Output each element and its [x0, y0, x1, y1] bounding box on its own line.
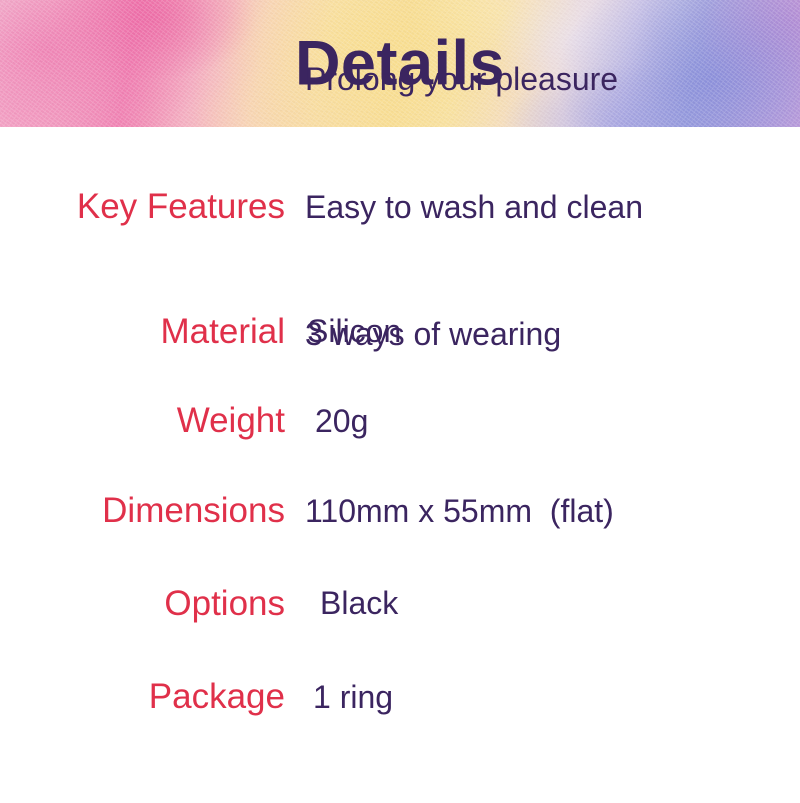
spec-label-package: Package: [0, 678, 285, 716]
details-page: Details Key Features Prolong your pleasu…: [0, 0, 800, 800]
spec-value-line: 1 ring: [313, 676, 800, 719]
spec-label-weight: Weight: [0, 402, 285, 440]
specification-table: Key Features Prolong your pleasure Easy …: [0, 127, 800, 743]
spec-value-line: Easy to wash and clean: [305, 186, 800, 229]
spec-label-key-features: Key Features: [0, 188, 285, 226]
spec-label-dimensions: Dimensions: [0, 492, 285, 530]
spec-value-package: 1 ring: [285, 591, 800, 803]
table-row-package: Package 1 ring: [0, 651, 800, 743]
spec-value-line: Prolong your pleasure: [305, 58, 800, 101]
spec-label-options: Options: [0, 585, 285, 623]
spec-label-material: Material: [0, 313, 285, 351]
